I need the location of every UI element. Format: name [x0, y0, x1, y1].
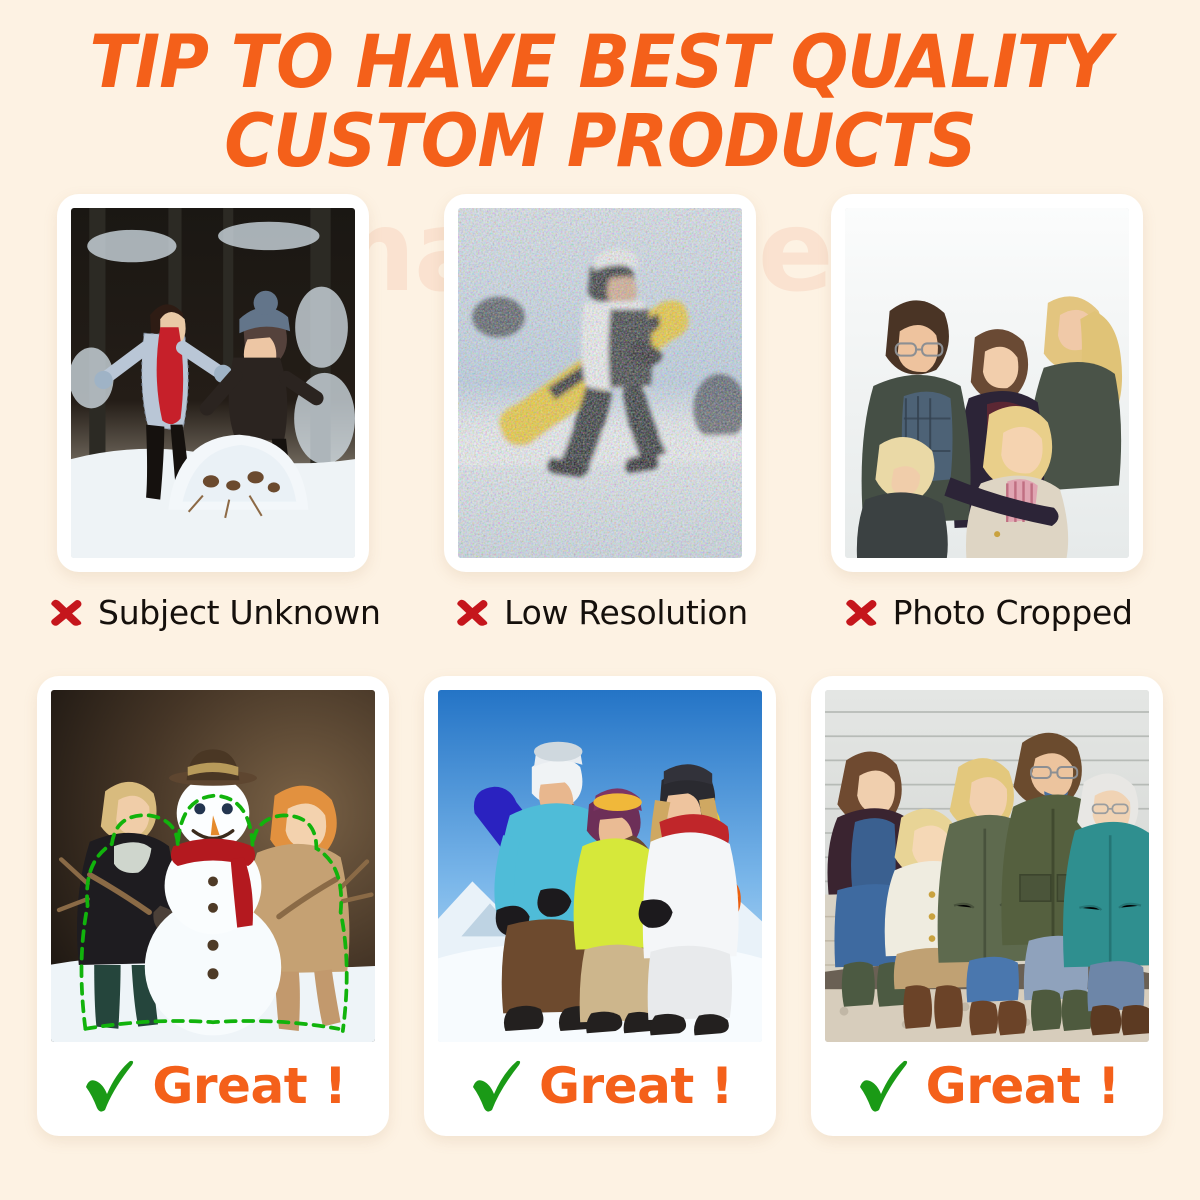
photo-card[interactable]: Great ! — [37, 676, 389, 1136]
card-photo-cropped: Photo Cropped — [797, 194, 1176, 664]
label-subject-unknown: Subject Unknown — [46, 590, 381, 636]
label-great-snowboarders: Great ! — [438, 1042, 762, 1130]
red-x-icon — [452, 593, 492, 633]
good-examples-row: Great ! — [0, 676, 1200, 1136]
photo-card[interactable] — [831, 194, 1143, 572]
page-title: TIP TO HAVE BEST QUALITY CUSTOM PRODUCTS — [42, 0, 1158, 182]
green-check-icon — [854, 1057, 912, 1115]
photo-great-snowman — [51, 690, 375, 1042]
card-great-snowman: Great ! — [24, 676, 403, 1136]
label-photo-cropped: Photo Cropped — [841, 590, 1133, 636]
bad-label-text: Photo Cropped — [893, 593, 1133, 632]
photo-card[interactable] — [57, 194, 369, 572]
bad-label-text: Low Resolution — [504, 593, 748, 632]
photo-great-snowboarders — [438, 690, 762, 1042]
card-subject-unknown: Subject Unknown — [24, 194, 403, 664]
photo-card[interactable] — [444, 194, 756, 572]
label-great-family: Great ! — [825, 1042, 1149, 1130]
page-title-line-1: TIP TO HAVE BEST QUALITY — [42, 24, 1158, 103]
photo-card[interactable]: Great ! — [811, 676, 1163, 1136]
good-label-text: Great ! — [539, 1057, 733, 1115]
bad-examples-row: Subject Unknown — [0, 194, 1200, 664]
photo-photo-cropped — [845, 208, 1129, 558]
red-x-icon — [46, 593, 86, 633]
card-great-family: Great ! — [797, 676, 1176, 1136]
label-great-snowman: Great ! — [51, 1042, 375, 1130]
photo-low-resolution — [458, 208, 742, 558]
green-check-icon — [80, 1057, 138, 1115]
photo-subject-unknown — [71, 208, 355, 558]
good-label-text: Great ! — [926, 1057, 1120, 1115]
label-low-resolution: Low Resolution — [452, 590, 748, 636]
green-check-icon — [467, 1057, 525, 1115]
bad-label-text: Subject Unknown — [98, 593, 381, 632]
photo-great-family — [825, 690, 1149, 1042]
page-title-line-2: CUSTOM PRODUCTS — [42, 103, 1158, 182]
photo-card[interactable]: Great ! — [424, 676, 776, 1136]
card-great-snowboarders: Great ! — [411, 676, 790, 1136]
card-low-resolution: Low Resolution — [411, 194, 790, 664]
red-x-icon — [841, 593, 881, 633]
good-label-text: Great ! — [152, 1057, 346, 1115]
